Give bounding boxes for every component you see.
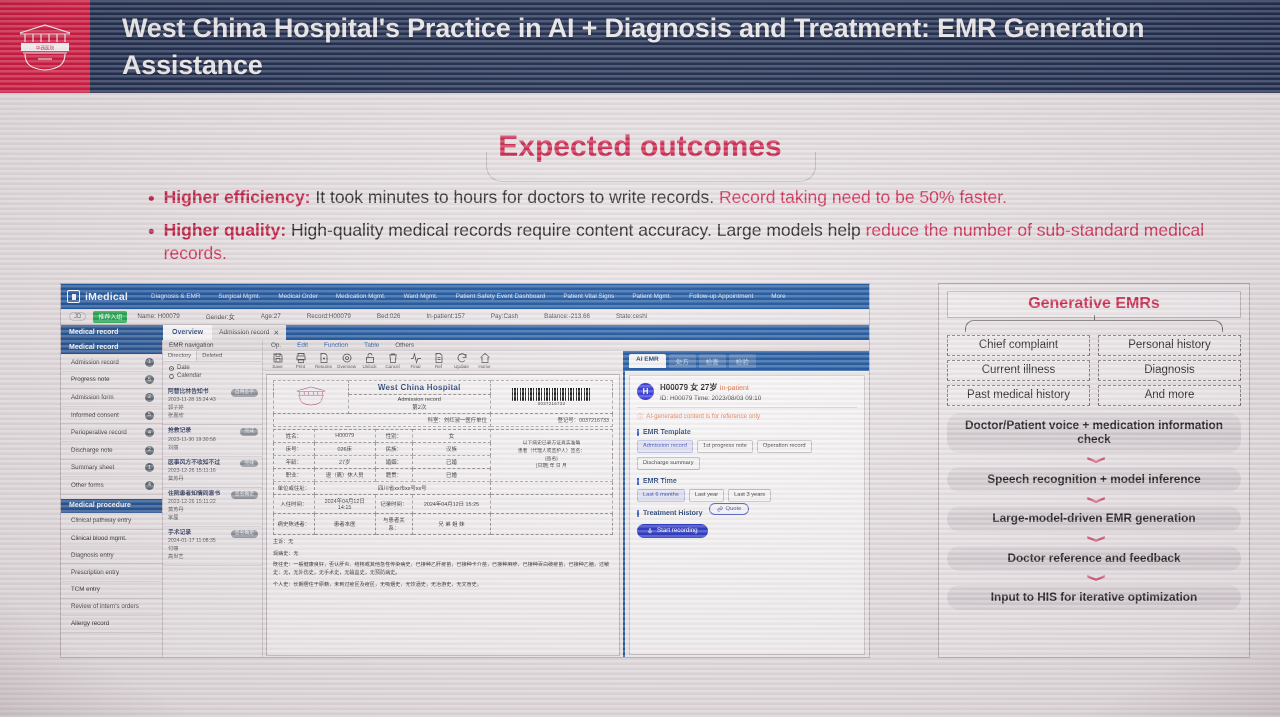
flow-box-personal-history: Personal history — [1098, 335, 1241, 356]
nav-item-more[interactable]: More — [762, 293, 794, 300]
chip-last-year[interactable]: Last year — [689, 489, 724, 502]
sidebar-item-label: Summary sheet — [71, 464, 114, 471]
field-value-empty — [490, 482, 612, 495]
field-value: 已婚 — [412, 469, 490, 482]
count-badge: 1 — [145, 463, 154, 472]
ai-warning-text: AI-generated content is for reference on… — [646, 413, 760, 420]
resume-icon — [318, 352, 330, 364]
generative-emrs-panel: Generative EMRs Chief complaint Personal… — [938, 283, 1250, 658]
sidebar-item-admission-record[interactable]: Admission record1 — [61, 354, 162, 372]
patient-info-bar: JD 推荐入组 Name: H00079 Gender:女 Age:27 Rec… — [61, 309, 869, 325]
chip-last-6-months[interactable]: Last 6 months — [637, 489, 685, 502]
dept-label: 科室： — [428, 418, 444, 424]
barcode-number: 0037216733 — [494, 401, 609, 406]
dept-value: 刘红淑一医疗单位 — [444, 418, 487, 424]
doc-author: 郭子婷 — [168, 405, 257, 412]
doc-author-2: 张嘉欣 — [168, 413, 257, 420]
field-label: 姓名： — [274, 430, 315, 443]
radio-icon — [169, 374, 174, 379]
quote-button[interactable]: Quote — [709, 503, 750, 515]
final-button[interactable]: Final — [404, 352, 427, 369]
list-item[interactable]: 抢救记录 2023-11-30 19:30:58 刘丽 完成 — [163, 425, 262, 456]
flow-box-chief-complaint: Chief complaint — [947, 335, 1090, 356]
start-recording-label: Start recording — [657, 527, 698, 534]
link-icon — [717, 506, 723, 512]
radio-calendar-label: Calendar — [177, 373, 201, 379]
patient-gender: Gender:女 — [206, 312, 235, 321]
sidebar-item-discharge-note[interactable]: Discharge note2 — [61, 442, 162, 460]
home-button[interactable]: Home — [473, 352, 496, 369]
sidebar-header-label: Medical record — [61, 325, 163, 340]
emr-application-screenshot: iMedical Diagnosis & EMR Surgical Mgmt. … — [60, 283, 870, 658]
sidebar-item-progress-note[interactable]: Progress note5 — [61, 372, 162, 390]
unlock-label: Unlock — [358, 364, 381, 369]
radio-calendar[interactable]: Calendar — [169, 373, 256, 379]
app-tabbar: Medical record Overview Admission record… — [61, 325, 869, 340]
document-fields-table: 姓名： H00079 性别： 女 以下病史已录方证真实准确 患者（代理人或监护人… — [273, 429, 613, 535]
bullet-list: • Higher efficiency: It took minutes to … — [148, 186, 1208, 271]
sidebar-section-medical-procedure: Medical procedure — [61, 499, 162, 513]
nav-item-patient-mgmt[interactable]: Patient Mgmt. — [623, 293, 680, 300]
regno-value: 0037216733 — [579, 418, 609, 424]
update-button[interactable]: Update — [450, 352, 473, 369]
field-value: 2024年04月12日 15:25 — [412, 495, 490, 514]
list-item[interactable]: 手术记录 2024-01-17 11:08:35 付丽 高世艺 签名确定 — [163, 527, 262, 566]
section-emr-time: EMR Time — [637, 478, 857, 485]
nav-item-medication-mgmt[interactable]: Medication Mgmt. — [327, 293, 395, 300]
radio-icon — [169, 366, 174, 371]
field-value: 已婚 — [412, 456, 490, 469]
sidebar-item-label: Discharge note — [71, 447, 113, 454]
flow-box-and-more: And more — [1098, 385, 1241, 406]
bullet-dot-icon: • — [148, 186, 155, 213]
sidebar-item-summary-sheet[interactable]: Summary sheet1 — [61, 460, 162, 478]
ai-patient-status: In-patient — [720, 385, 749, 392]
field-label: 年龄： — [274, 456, 315, 469]
sidebar-item-label: Progress note — [71, 376, 110, 383]
doc-paragraph-chief-complaint: 主诉：无 — [273, 539, 613, 547]
list-item: • Higher quality: High-quality medical r… — [148, 219, 1208, 265]
doc-author-2: 高世艺 — [168, 554, 257, 561]
field-value-empty — [490, 495, 612, 514]
sidebar-item-tcm-entry[interactable]: TCM entry — [61, 582, 162, 599]
sidebar-item-diagnosis-entry[interactable]: Diagnosis entry — [61, 547, 162, 564]
editor-toolbar: Save Print Resume Overview — [263, 351, 623, 371]
microphone-icon — [647, 528, 653, 534]
count-badge: 2 — [145, 393, 154, 402]
field-value: 退（离）休人员 — [314, 469, 375, 482]
doc-status-badge: 完成 — [240, 428, 258, 436]
slide-header: 华西医院 West China Hospital's Practice in A… — [0, 0, 1280, 93]
divider — [637, 407, 857, 408]
cancel-button[interactable]: Cancel — [381, 352, 404, 369]
ai-panel-tabs: AI EMR 处方 检查 检验 — [625, 351, 869, 371]
print-label: Print — [289, 364, 312, 369]
field-value: H00079 — [314, 430, 375, 443]
field-value: 兄 弟 姐 妹 — [412, 514, 490, 535]
count-badge: 5 — [145, 411, 154, 420]
bullet-text: Higher quality: High-quality medical rec… — [164, 219, 1208, 265]
doc-time: 2023-11-30 19:30:58 — [168, 437, 257, 444]
ai-emr-panel: AI EMR 处方 检查 检验 H H00079 女 27岁 In-patien… — [623, 351, 869, 658]
sidebar-item-label: Admission form — [71, 394, 114, 401]
ribbon-tab-edit[interactable]: Edit — [289, 340, 316, 350]
sidebar-item-clinical-blood-mgmt[interactable]: Clinical blood mgmt. — [61, 530, 162, 547]
sidebar-item-label: Informed consent — [71, 412, 119, 419]
tab-admission-record[interactable]: Admission record ✕ — [212, 325, 286, 340]
bullet-text: Higher efficiency: It took minutes to ho… — [164, 186, 1007, 209]
quote-label: Quote — [726, 506, 742, 512]
bullet-highlight: Record taking need to be 50% faster. — [719, 187, 1007, 207]
app-sidebar: Medical record Admission record1 Progres… — [61, 340, 163, 658]
print-button[interactable]: Print — [289, 352, 312, 369]
doc-author: 莫苏丹 — [168, 476, 257, 483]
nav-item-medical-order[interactable]: Medical Order — [269, 293, 327, 300]
field-label: 记录时间： — [375, 495, 412, 514]
field-label: 职业： — [274, 469, 315, 482]
doc-status-badge: 完成 — [240, 460, 258, 468]
nav-item-surgical-mgmt[interactable]: Surgical Mgmt. — [209, 293, 269, 300]
field-label: 与患者关系： — [375, 514, 412, 535]
doc-title: 手术记录 — [168, 530, 230, 537]
field-label: 单位或住址： — [274, 482, 315, 495]
chip-first-progress-note[interactable]: 1st progress note — [697, 440, 753, 453]
patient-name: Name: H00079 — [137, 313, 179, 320]
refresh-icon — [456, 352, 468, 364]
doc-time: 2023-12-26 15:11:16 — [168, 468, 257, 475]
sidebar-item-perioperative-record[interactable]: Perioperative record4 — [61, 424, 162, 442]
bullet-body: High-quality medical records require con… — [286, 220, 865, 240]
sidebar-item-prescription-entry[interactable]: Prescription entry — [61, 564, 162, 581]
chip-admission-record[interactable]: Admission record — [637, 440, 693, 453]
sidebar-section-medical-record: Medical record — [61, 340, 162, 354]
app-navbar: iMedical Diagnosis & EMR Surgical Mgmt. … — [61, 284, 869, 309]
sidebar-item-label: Admission record — [71, 359, 119, 366]
section-emr-template: EMR Template — [637, 429, 857, 436]
field-label: 籍贯： — [375, 469, 412, 482]
sidebar-item-label: Other forms — [71, 482, 104, 489]
directory-view-radios: Date Calendar — [163, 362, 262, 384]
patient-age: Age:27 — [261, 313, 281, 320]
chip-last-3-years[interactable]: Last 3 years — [728, 489, 771, 502]
flow-box-current-illness: Current illness — [947, 360, 1090, 381]
nav-item-ward-mgmt[interactable]: Ward Mgmt. — [395, 293, 447, 300]
cancel-label: Cancel — [381, 364, 404, 369]
patient-record: Record:H00079 — [307, 313, 351, 320]
flowchart-steps: Doctor/Patient voice + medication inform… — [947, 413, 1241, 610]
tab-overview[interactable]: Overview — [163, 325, 212, 340]
document-pane: Save Print Resume Overview — [263, 351, 623, 658]
overview-button[interactable]: Overview — [335, 352, 358, 369]
tab-prescription[interactable]: 处方 — [669, 354, 696, 368]
ribbon-tabbar: EMR navigation Op. Edit Function Table O… — [163, 340, 869, 351]
field-value: 汉族 — [412, 443, 490, 456]
patient-bed: Bed:026 — [377, 313, 400, 320]
nav-item-patient-vital-signs[interactable]: Patient Vital Signs — [554, 293, 623, 300]
count-badge: 1 — [145, 358, 154, 367]
chip-operation-record[interactable]: Operation record — [757, 440, 812, 453]
update-label: Update — [450, 364, 473, 369]
patient-balance: Balance:-213.66 — [544, 313, 590, 320]
ribbon-tab-table[interactable]: Table — [356, 340, 387, 350]
radio-date-label: Date — [177, 365, 190, 371]
nav-item-followup-appointment[interactable]: Follow-up Appointment — [680, 293, 762, 300]
doc-paragraph-personal-history: 个人史：长期居住于原籍，未到过疫区及疫区，无吸烟史，无饮酒史，无冶游史，无文盲史… — [273, 582, 613, 590]
ai-warning: ⓘ AI-generated content is for reference … — [637, 412, 857, 421]
tab-deleted[interactable]: Deleted — [197, 351, 227, 361]
west-china-hospital-emblem-icon: 华西医院 — [14, 20, 76, 74]
resume-button[interactable]: Resume — [312, 352, 335, 369]
ai-patient-header: H H00079 女 27岁 In-patient ID: H00079 Tim… — [637, 382, 857, 402]
time-chip-row: Last 6 months Last year Last 3 years — [637, 489, 857, 502]
document-list: 阿替比林告知书 2023-11-28 15:24:43 郭子婷 张嘉欣 自用签字… — [163, 384, 262, 568]
tab-directory[interactable]: Directory — [163, 351, 197, 361]
final-label: Final — [404, 364, 427, 369]
directory-tabs: Directory Deleted — [163, 351, 262, 362]
svg-text:华西医院: 华西医院 — [36, 44, 55, 51]
doc-time: 2023-11-28 15:24:43 — [168, 397, 257, 404]
ribbon-tab-function[interactable]: Function — [316, 340, 356, 350]
sidebar-item-allergy-record[interactable]: Allergy record — [61, 616, 162, 633]
field-value-empty — [490, 514, 612, 535]
bullet-lead: Higher efficiency: — [164, 187, 311, 207]
unlock-button[interactable]: Unlock — [358, 352, 381, 369]
admission-record-document: West China Hospital 0037216733 Admission… — [266, 374, 620, 656]
field-value: 四川省xx市xx号xx号 — [314, 482, 490, 495]
nav-item-patient-safety-dashboard[interactable]: Patient Safety Event Dashboard — [447, 293, 555, 300]
flow-box-past-medical-history: Past medical history — [947, 385, 1090, 406]
save-label: Save — [266, 364, 289, 369]
list-item[interactable]: 住院患者知情同意书 2023-12-26 15:11:22 莫苏丹 家屋 签名确… — [163, 488, 262, 527]
sidebar-item-review-intern-orders[interactable]: Review of intern's orders — [61, 599, 162, 616]
home-icon — [479, 352, 491, 364]
ai-patient-name-text: H00079 女 27岁 — [660, 383, 717, 392]
field-label: 入住时间： — [274, 495, 315, 514]
page-title: Expected outcomes — [0, 130, 1280, 164]
section-treatment-history: Treatment History — [637, 510, 703, 517]
emr-mid-area: Directory Deleted Date Calendar 阿替比林告知书 … — [163, 351, 869, 658]
field-value: 026床 — [314, 443, 375, 456]
tab-ai-emr[interactable]: AI EMR — [629, 354, 666, 368]
bullet-lead: Higher quality: — [164, 220, 287, 240]
doc-paragraph-present-illness: 现病史：无 — [273, 551, 613, 559]
patient-pay: Pay:Cash — [491, 313, 518, 320]
unlock-icon — [364, 352, 376, 364]
print-icon — [295, 352, 307, 364]
doc-author-2: 家屋 — [168, 515, 257, 522]
app-centre-column: EMR navigation Op. Edit Function Table O… — [163, 340, 869, 658]
document-form-sub: 第2次 — [352, 403, 487, 411]
jd-button[interactable]: JD — [69, 312, 86, 321]
count-badge: 4 — [145, 481, 154, 490]
hospital-logo: 华西医院 — [0, 0, 90, 93]
chevron-down-icon: ❯ — [1085, 431, 1103, 717]
field-label: 性别： — [375, 430, 412, 443]
ai-patient-name: H00079 女 27岁 In-patient — [660, 382, 761, 393]
signature-note: 以下病史已录方证真实准确 患者（代理人或监护人）签名： [签名] [日期] 年 … — [490, 430, 612, 482]
tab-examination[interactable]: 检查 — [699, 354, 726, 368]
doc-author: 付丽 — [168, 546, 257, 553]
doc-status-badge: 自用签字 — [231, 389, 258, 397]
sidebar-item-admission-form[interactable]: Admission form2 — [61, 389, 162, 407]
doc-title: 抢救记录 — [168, 428, 230, 435]
overview-icon — [341, 352, 353, 364]
imedical-logo-icon — [67, 290, 80, 303]
doc-status-badge: 签名确定 — [231, 491, 258, 499]
doc-title: 医事风方不收知不过 — [168, 460, 230, 467]
ai-patient-meta: ID: H00079 Time: 2023/08/03 09:10 — [660, 395, 761, 402]
info-icon: ⓘ — [637, 412, 643, 421]
patient-state: State:ceshi — [616, 313, 647, 320]
trash-icon — [387, 352, 399, 364]
field-label: 民族： — [375, 443, 412, 456]
radio-date[interactable]: Date — [169, 365, 256, 371]
field-value: 2024年04月12日 14:15 — [314, 495, 375, 514]
hospital-emblem-icon — [294, 385, 328, 407]
field-value: 患者本医 — [314, 514, 375, 535]
tab-admission-record-label: Admission record — [219, 329, 269, 336]
list-item: • Higher efficiency: It took minutes to … — [148, 186, 1208, 213]
doc-author: 莫苏丹 — [168, 507, 257, 514]
treatment-history-header: Treatment History Quote — [637, 502, 857, 517]
overview-label: Overview — [335, 364, 358, 369]
count-badge: 5 — [145, 375, 154, 384]
sidebar-item-label: Perioperative record — [71, 429, 127, 436]
ai-content-card: H H00079 女 27岁 In-patient ID: H00079 Tim… — [629, 375, 865, 655]
avatar: H — [637, 383, 654, 400]
doc-author: 刘丽 — [168, 445, 257, 452]
field-label: 婚姻： — [375, 456, 412, 469]
document-hospital-name: West China Hospital — [352, 383, 487, 392]
ribbon-tab-op[interactable]: Op. — [263, 340, 289, 350]
list-item[interactable]: 阿替比林告知书 2023-11-28 15:24:43 郭子婷 张嘉欣 自用签字 — [163, 386, 262, 425]
status-badge: 推荐入组 — [93, 311, 127, 323]
field-value: 女 — [412, 430, 490, 443]
ribbon-tab-others[interactable]: Others — [387, 340, 422, 350]
regno-label: 登记号： — [557, 418, 579, 424]
doc-title: 住院患者知情同意书 — [168, 491, 230, 498]
template-chip-row: Admission record 1st progress note Opera… — [637, 440, 857, 470]
doc-time: 2023-12-26 15:11:22 — [168, 499, 257, 506]
field-label: 床号： — [274, 443, 315, 456]
bullet-dot-icon: • — [148, 219, 155, 246]
list-item[interactable]: 医事风方不收知不过 2023-12-26 15:11:16 莫苏丹 完成 — [163, 457, 262, 488]
save-icon — [272, 352, 284, 364]
field-label: 病史陈述者： — [274, 514, 315, 535]
home-label: Home — [473, 364, 496, 369]
doc-paragraph-past-history: 既往史：一般健康良好，否认肝炎、结核或其他急性传染病史，已接种乙肝疫苗，已接种卡… — [273, 562, 613, 577]
doc-title: 阿替比林告知书 — [168, 389, 230, 396]
save-button[interactable]: Save — [266, 352, 289, 369]
document-header-table: West China Hospital 0037216733 Admission… — [273, 380, 613, 427]
document-icon — [433, 352, 445, 364]
app-body: Medical record Admission record1 Progres… — [61, 340, 869, 658]
vitals-icon — [410, 352, 422, 364]
sidebar-item-informed-consent[interactable]: Informed consent5 — [61, 407, 162, 425]
ref-button[interactable]: Ref — [427, 352, 450, 369]
nav-item-diagnosis-emr[interactable]: Diagnosis & EMR — [142, 293, 209, 300]
count-badge: 4 — [145, 428, 154, 437]
header-title: West China Hospital's Practice in AI + D… — [90, 0, 1280, 93]
doc-time: 2024-01-17 11:08:35 — [168, 538, 257, 545]
doc-status-badge: 签名确定 — [231, 530, 258, 538]
ref-label: Ref — [427, 364, 450, 369]
chip-discharge-summary[interactable]: Discharge summary — [637, 457, 700, 470]
directory-column: Directory Deleted Date Calendar 阿替比林告知书 … — [163, 351, 263, 658]
start-recording-button[interactable]: Start recording — [637, 524, 708, 538]
bullet-body: It took minutes to hours for doctors to … — [311, 187, 720, 207]
field-value: 27岁 — [314, 456, 375, 469]
close-icon[interactable]: ✕ — [273, 329, 279, 337]
patient-inpatient-no: In-patient:157 — [426, 313, 465, 320]
app-brand-label: iMedical — [85, 291, 128, 303]
sidebar-item-clinical-pathway-entry[interactable]: Clinical pathway entry — [61, 513, 162, 530]
barcode — [512, 388, 590, 401]
flow-box-diagnosis: Diagnosis — [1098, 360, 1241, 381]
tab-lab-test[interactable]: 检验 — [729, 354, 756, 368]
resume-label: Resume — [312, 364, 335, 369]
emr-navigation-label: EMR navigation — [163, 340, 263, 350]
sidebar-item-other-forms[interactable]: Other forms4 — [61, 477, 162, 495]
count-badge: 2 — [145, 446, 154, 455]
